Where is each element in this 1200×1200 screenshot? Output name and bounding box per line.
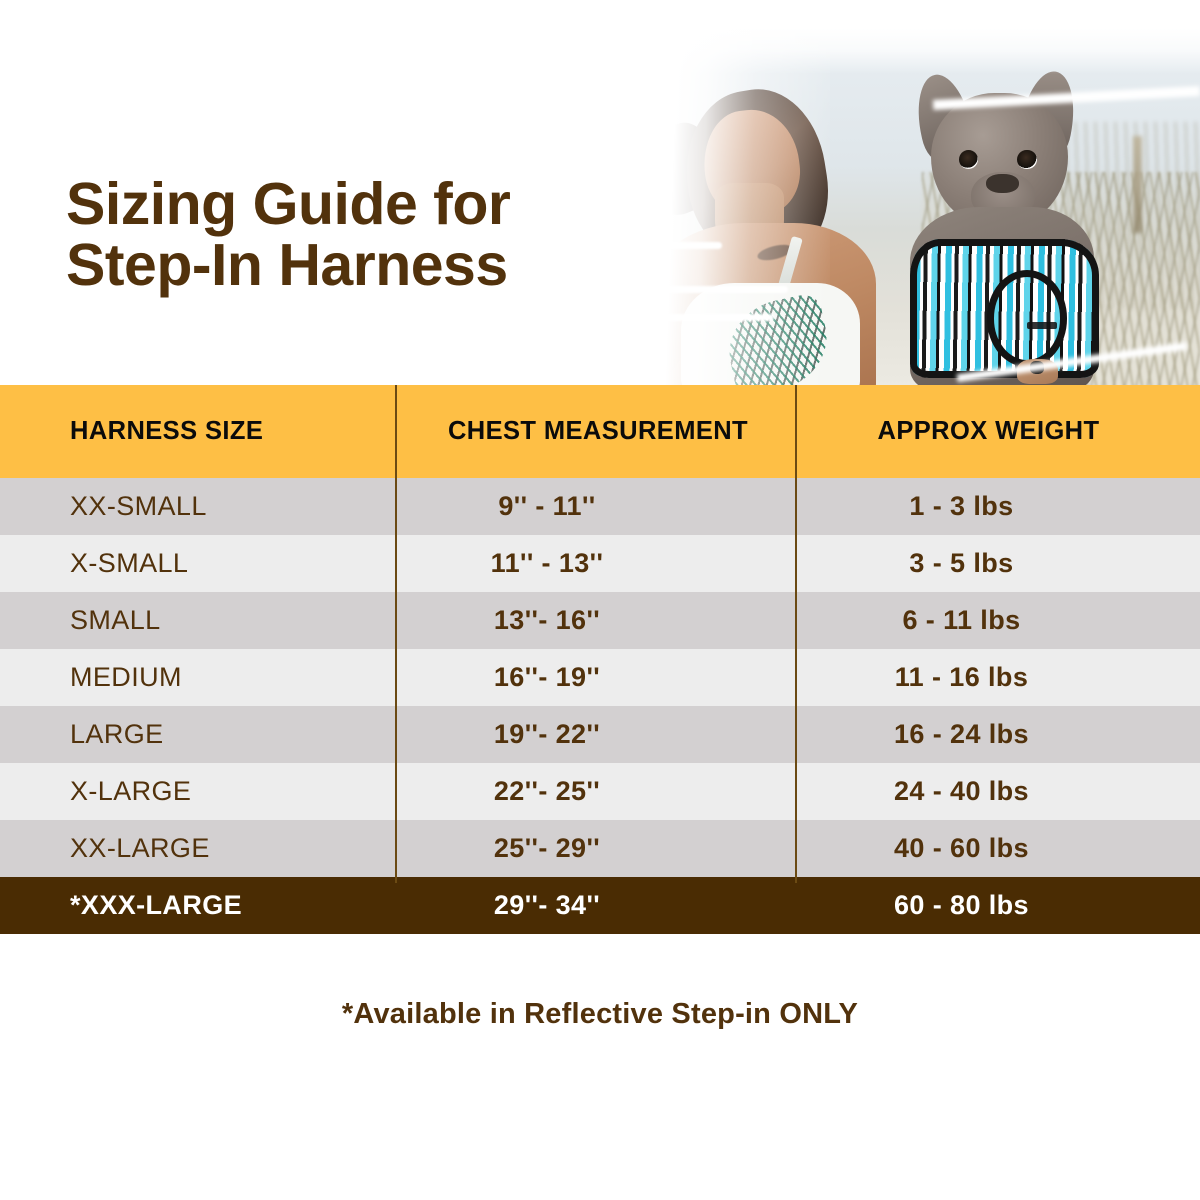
table-row: X-SMALL 11'' - 13'' 3 - 5 lbs	[0, 535, 1200, 592]
sizing-guide-page: Sizing Guide for Step-In Harness HARNESS…	[0, 0, 1200, 1200]
cell-harness-size: LARGE	[0, 706, 395, 763]
cell-harness-size: SMALL	[0, 592, 395, 649]
cell-harness-size: X-SMALL	[0, 535, 395, 592]
cell-chest-measurement: 25''- 29''	[395, 820, 795, 877]
cell-harness-size: MEDIUM	[0, 649, 395, 706]
page-title: Sizing Guide for Step-In Harness	[66, 174, 686, 297]
footnote-reflective-only: *Available in Reflective Step-in ONLY	[0, 998, 1200, 1031]
cell-harness-size: X-LARGE	[0, 763, 395, 820]
dog-eye-left	[959, 150, 978, 169]
sizing-table: HARNESS SIZE CHEST MEASUREMENT APPROX WE…	[0, 385, 1200, 934]
cell-harness-size: *XXX-LARGE	[0, 877, 395, 934]
cell-chest-measurement: 13''- 16''	[395, 592, 795, 649]
photo-background	[620, 28, 1200, 388]
table-row-highlighted: *XXX-LARGE 29''- 34'' 60 - 80 lbs	[0, 877, 1200, 934]
cell-approx-weight: 60 - 80 lbs	[795, 877, 1200, 934]
table-row: XX-LARGE 25''- 29'' 40 - 60 lbs	[0, 820, 1200, 877]
french-bulldog	[869, 68, 1124, 385]
cell-chest-measurement: 16''- 19''	[395, 649, 795, 706]
column-header-chest-measurement: CHEST MEASUREMENT	[395, 385, 795, 478]
cell-approx-weight: 16 - 24 lbs	[795, 706, 1200, 763]
hero-photo	[620, 28, 1200, 388]
table-header-row: HARNESS SIZE CHEST MEASUREMENT APPROX WE…	[0, 385, 1200, 478]
harness-leash-ring	[987, 270, 1067, 366]
cell-approx-weight: 11 - 16 lbs	[795, 649, 1200, 706]
cell-chest-measurement: 9'' - 11''	[395, 478, 795, 535]
table-row: X-LARGE 22''- 25'' 24 - 40 lbs	[0, 763, 1200, 820]
table-row: XX-SMALL 9'' - 11'' 1 - 3 lbs	[0, 478, 1200, 535]
cell-harness-size: XX-LARGE	[0, 820, 395, 877]
column-header-harness-size: HARNESS SIZE	[0, 385, 395, 478]
cell-chest-measurement: 29''- 34''	[395, 877, 795, 934]
table-row: LARGE 19''- 22'' 16 - 24 lbs	[0, 706, 1200, 763]
cell-approx-weight: 40 - 60 lbs	[795, 820, 1200, 877]
dog-eye-right	[1017, 150, 1036, 169]
cell-chest-measurement: 22''- 25''	[395, 763, 795, 820]
table-row: MEDIUM 16''- 19'' 11 - 16 lbs	[0, 649, 1200, 706]
cell-chest-measurement: 19''- 22''	[395, 706, 795, 763]
cell-harness-size: XX-SMALL	[0, 478, 395, 535]
cell-chest-measurement: 11'' - 13''	[395, 535, 795, 592]
cell-approx-weight: 1 - 3 lbs	[795, 478, 1200, 535]
cell-approx-weight: 6 - 11 lbs	[795, 592, 1200, 649]
cell-approx-weight: 3 - 5 lbs	[795, 535, 1200, 592]
cell-approx-weight: 24 - 40 lbs	[795, 763, 1200, 820]
table-row: SMALL 13''- 16'' 6 - 11 lbs	[0, 592, 1200, 649]
column-header-approx-weight: APPROX WEIGHT	[795, 385, 1200, 478]
beach-post	[1133, 136, 1142, 233]
dog-nose	[986, 174, 1019, 193]
